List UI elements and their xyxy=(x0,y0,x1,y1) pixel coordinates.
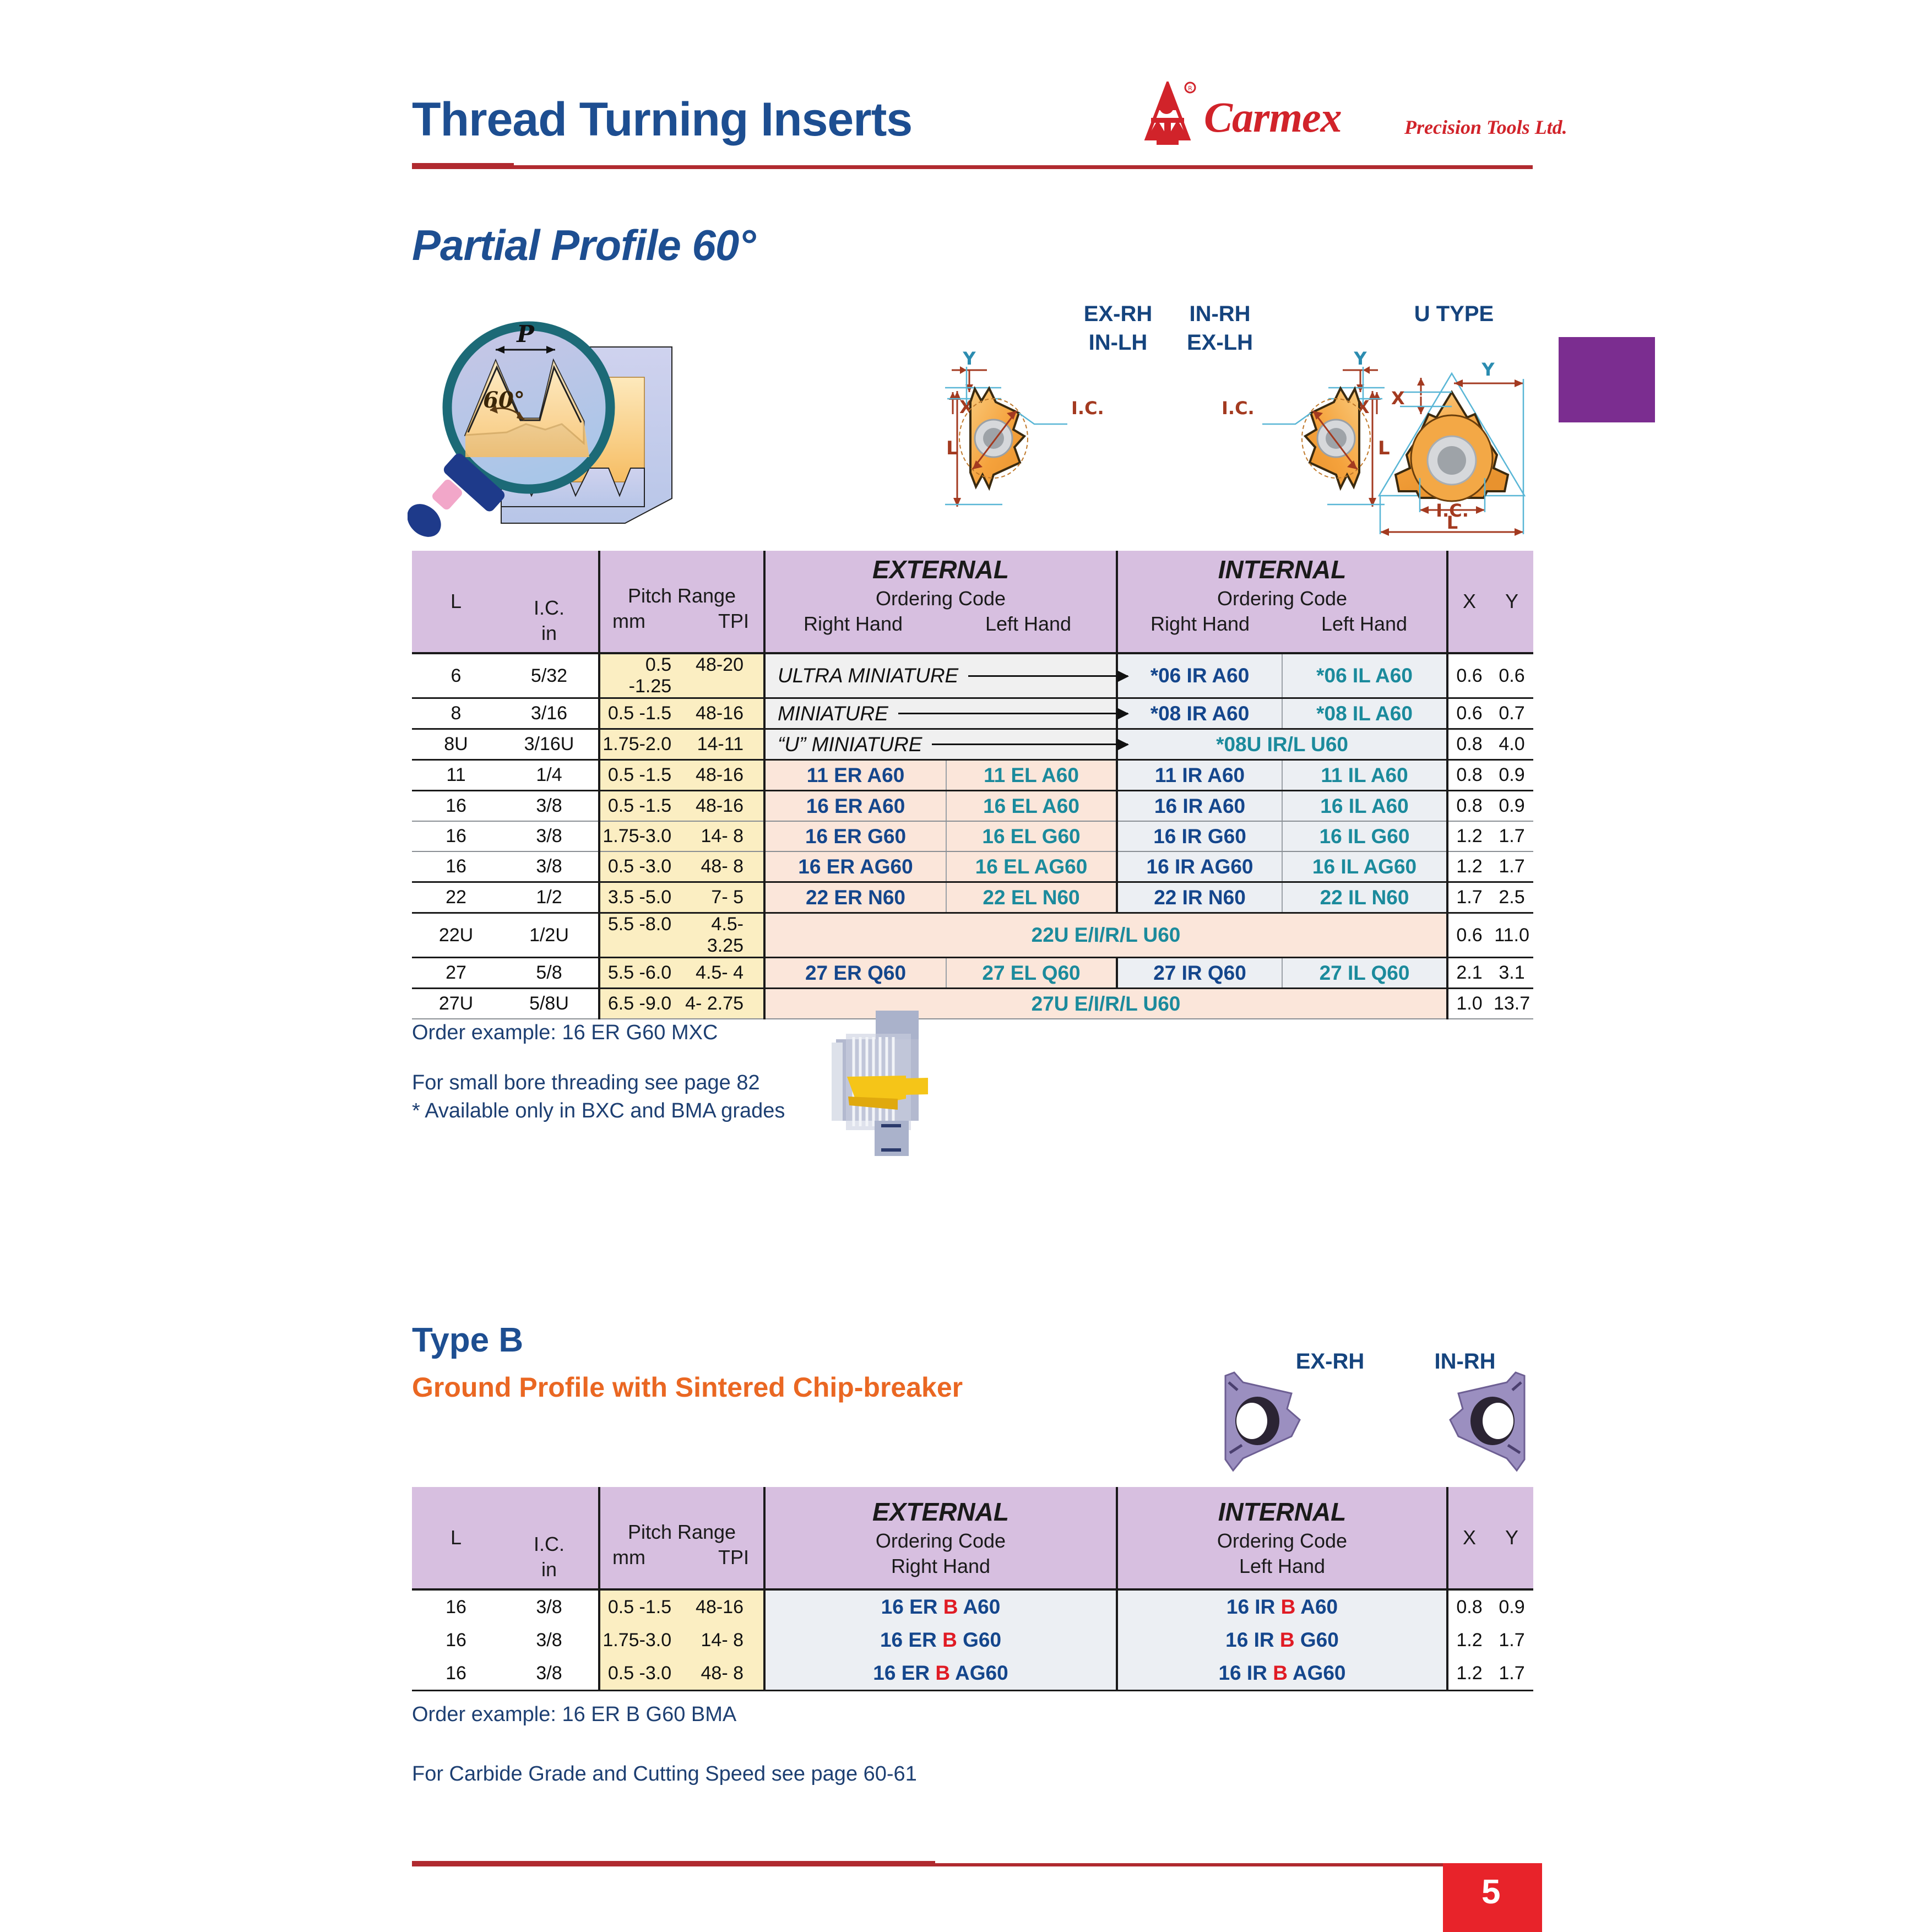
cell-y: 0.9 xyxy=(1490,791,1533,822)
cell-y: 1.7 xyxy=(1490,851,1533,882)
cell-l: 27U xyxy=(412,989,500,1019)
cell-x: 0.8 xyxy=(1447,729,1490,760)
cell-x: 0.8 xyxy=(1447,791,1490,822)
cell-external-note: “U” MINIATURE xyxy=(764,729,1117,760)
section-title-partial-profile: Partial Profile 60° xyxy=(412,220,755,270)
cell-internal-lh: 11 IL A60 xyxy=(1282,760,1447,791)
cell-internal-rh: 16 IR A60 xyxy=(1117,791,1282,822)
typeb-insert-photo-in-rh xyxy=(1426,1366,1542,1476)
cell-internal-lh: 16 IL G60 xyxy=(1282,821,1447,851)
table-row: 22U1/2U5.5 -8.04.5- 3.2522U E/I/R/L U600… xyxy=(412,913,1533,958)
typeb-insert-photo-ex-rh xyxy=(1209,1366,1325,1476)
note-carbide-grade: For Carbide Grade and Cutting Speed see … xyxy=(412,1762,917,1786)
cell-external-code: 16 ER B AG60 xyxy=(764,1657,1117,1691)
note-order-example-2: Order example: 16 ER B G60 BMA xyxy=(412,1703,736,1727)
table-row: 221/23.5 -5.07- 522 ER N6022 EL N6022 IR… xyxy=(412,882,1533,913)
cell-x: 2.1 xyxy=(1447,958,1490,989)
cell-external-lh: 11 EL A60 xyxy=(946,760,1117,791)
cell-pitch: 6.5 -9.04- 2.75 xyxy=(599,989,764,1019)
table-row: 163/80.5 -1.548-1616 ER B A6016 IR B A60… xyxy=(412,1589,1533,1624)
cell-x: 0.6 xyxy=(1447,653,1490,698)
cell-l: 6 xyxy=(412,653,500,698)
cell-internal-lh: 22 IL N60 xyxy=(1282,882,1447,913)
cell-ic: 5/32 xyxy=(500,653,599,698)
cell-l: 27 xyxy=(412,958,500,989)
carmex-logo: R Carmex Precision Tools Ltd. xyxy=(1135,82,1542,150)
cell-x: 0.8 xyxy=(1447,760,1490,791)
typeb-header-row: L I.C. in Pitch Range mm TPI xyxy=(412,1487,1533,1589)
col-header-x: X xyxy=(1447,551,1490,653)
cell-ic: 3/8 xyxy=(500,821,599,851)
cell-pitch: 0.5 -1.548-16 xyxy=(599,1589,764,1624)
col-header-external: EXTERNAL Ordering Code Right Hand xyxy=(764,1487,1117,1589)
section-title-type-b: Type B xyxy=(412,1321,523,1360)
cell-l: 16 xyxy=(412,1589,500,1624)
cell-l: 16 xyxy=(412,1624,500,1657)
cell-external-lh: 22 EL N60 xyxy=(946,882,1117,913)
cell-y: 1.7 xyxy=(1490,1624,1533,1657)
table-row: 65/320.5 -1.2548-20ULTRA MINIATURE*06 IR… xyxy=(412,653,1533,698)
cell-y: 3.1 xyxy=(1490,958,1533,989)
cell-internal-code: 16 IR B A60 xyxy=(1117,1589,1447,1624)
insert-diagram-u-type: Y X I.C. L xyxy=(1349,330,1581,540)
cell-pitch: 0.5 -1.2548-20 xyxy=(599,653,764,698)
cell-external-rh: 27 ER Q60 xyxy=(764,958,946,989)
cell-y: 0.9 xyxy=(1490,760,1533,791)
brand-wordmark: Carmex xyxy=(1204,93,1342,142)
diagram-label-u-type: U TYPE xyxy=(1391,302,1517,327)
cell-internal-rh: *08 IR A60 xyxy=(1117,698,1282,729)
svg-text:L: L xyxy=(946,437,958,459)
cell-l: 22 xyxy=(412,882,500,913)
note-grades: * Available only in BXC and BMA grades xyxy=(412,1099,785,1123)
cell-internal-code: 16 IR B G60 xyxy=(1117,1624,1447,1657)
cell-pitch: 5.5 -6.04.5- 4 xyxy=(599,958,764,989)
cell-internal-rh: *06 IR A60 xyxy=(1117,653,1282,698)
cell-pitch: 1.75-2.014-11 xyxy=(599,729,764,760)
cell-x: 0.6 xyxy=(1447,913,1490,958)
cell-y: 1.7 xyxy=(1490,1657,1533,1691)
svg-text:L: L xyxy=(1447,512,1458,533)
cell-external-lh: 27 EL Q60 xyxy=(946,958,1117,989)
cell-pitch: 0.5 -1.548-16 xyxy=(599,760,764,791)
table-row: 163/80.5 -3.048- 816 ER AG6016 EL AG6016… xyxy=(412,851,1533,882)
table-row: 111/40.5 -1.548-1611 ER A6011 EL A6011 I… xyxy=(412,760,1533,791)
cell-external-note: MINIATURE xyxy=(764,698,1117,729)
note-order-example-1: Order example: 16 ER G60 MXC xyxy=(412,1021,718,1045)
section-subtitle-type-b: Ground Profile with Sintered Chip-breake… xyxy=(412,1371,963,1403)
cell-external-note: ULTRA MINIATURE xyxy=(764,653,1117,698)
type-b-table: L I.C. in Pitch Range mm TPI xyxy=(412,1487,1533,1691)
insert-diagram-ex-rh: L Y X I.C. xyxy=(936,330,1168,523)
cell-l: 16 xyxy=(412,1657,500,1691)
col-header-pitch-range: Pitch Range mm TPI xyxy=(599,1487,764,1589)
col-header-y: Y xyxy=(1490,1487,1533,1589)
cell-ic: 1/4 xyxy=(500,760,599,791)
cell-external-code: 16 ER B G60 xyxy=(764,1624,1117,1657)
svg-text:X: X xyxy=(1391,388,1405,409)
cell-l: 8U xyxy=(412,729,500,760)
cell-y: 1.7 xyxy=(1490,821,1533,851)
cell-ic: 5/8U xyxy=(500,989,599,1019)
cell-pitch: 1.75-3.014- 8 xyxy=(599,1624,764,1657)
pitch-label-p: P xyxy=(516,321,535,348)
cell-y: 11.0 xyxy=(1490,913,1533,958)
table-row: 275/85.5 -6.04.5- 427 ER Q6027 EL Q6027 … xyxy=(412,958,1533,989)
cell-x: 0.6 xyxy=(1447,698,1490,729)
cell-internal-lh: *08 IL A60 xyxy=(1282,698,1447,729)
cell-pitch: 0.5 -1.548-16 xyxy=(599,698,764,729)
cell-l: 8 xyxy=(412,698,500,729)
cell-internal-code: 16 IR B AG60 xyxy=(1117,1657,1447,1691)
cell-internal-rh: 11 IR A60 xyxy=(1117,760,1282,791)
cell-internal-rh: 22 IR N60 xyxy=(1117,882,1282,913)
cell-external-rh: 22 ER N60 xyxy=(764,882,946,913)
cell-ic: 5/8 xyxy=(500,958,599,989)
thread-magnifier-illustration: P 60° xyxy=(408,317,716,540)
cell-x: 1.0 xyxy=(1447,989,1490,1019)
col-header-y: Y xyxy=(1490,551,1533,653)
table-row: 163/81.75-3.014- 816 ER B G6016 IR B G60… xyxy=(412,1624,1533,1657)
cell-pitch: 5.5 -8.04.5- 3.25 xyxy=(599,913,764,958)
cell-internal-lh: 16 IL A60 xyxy=(1282,791,1447,822)
cell-ic: 1/2 xyxy=(500,882,599,913)
cell-x: 0.8 xyxy=(1447,1589,1490,1624)
cell-internal-lh: *06 IL A60 xyxy=(1282,653,1447,698)
cell-pitch: 1.75-3.014- 8 xyxy=(599,821,764,851)
cell-external-rh: 16 ER AG60 xyxy=(764,851,946,882)
cell-external-rh: 16 ER G60 xyxy=(764,821,946,851)
cell-x: 1.2 xyxy=(1447,1657,1490,1691)
cell-y: 0.6 xyxy=(1490,653,1533,698)
catalog-page: Thread Turning Inserts R Carmex Precisio… xyxy=(0,0,1932,1932)
cell-pitch: 0.5 -3.048- 8 xyxy=(599,1657,764,1691)
cell-external-rh: 11 ER A60 xyxy=(764,760,946,791)
cell-internal-lh: 16 IL AG60 xyxy=(1282,851,1447,882)
col-header-l: L xyxy=(412,551,500,653)
diagram-label-in-rh: IN-RH xyxy=(1165,302,1275,327)
table-row: 8U3/16U1.75-2.014-11“U” MINIATURE*08U IR… xyxy=(412,729,1533,760)
footer-rule-accent xyxy=(412,1861,935,1866)
cell-ic: 3/8 xyxy=(500,1589,599,1624)
cell-l: 22U xyxy=(412,913,500,958)
cell-l: 16 xyxy=(412,851,500,882)
table-row: 163/81.75-3.014- 816 ER G6016 EL G6016 I… xyxy=(412,821,1533,851)
cell-external-code: 16 ER B A60 xyxy=(764,1589,1117,1624)
cell-pitch: 0.5 -3.048- 8 xyxy=(599,851,764,882)
cell-y: 0.7 xyxy=(1490,698,1533,729)
svg-text:R: R xyxy=(1188,85,1192,92)
cell-l: 16 xyxy=(412,791,500,822)
table-row: 163/80.5 -3.048- 816 ER B AG6016 IR B AG… xyxy=(412,1657,1533,1691)
cell-internal-rh: 27 IR Q60 xyxy=(1117,958,1282,989)
svg-text:Y: Y xyxy=(1481,359,1495,380)
header-rule xyxy=(412,165,1533,169)
svg-text:Y: Y xyxy=(962,348,976,369)
cell-external-lh: 16 EL G60 xyxy=(946,821,1117,851)
svg-text:I.C.: I.C. xyxy=(1071,398,1104,419)
table-row: 163/80.5 -1.548-1616 ER A6016 EL A6016 I… xyxy=(412,791,1533,822)
brand-tagline: Precision Tools Ltd. xyxy=(1404,116,1567,139)
col-header-internal: INTERNAL Ordering Code Right Hand Left H… xyxy=(1117,551,1447,653)
cell-y: 2.5 xyxy=(1490,882,1533,913)
cell-internal-span: *08U IR/L U60 xyxy=(1117,729,1447,760)
table-header-row: L I.C. in Pitch Range mm TPI xyxy=(412,551,1533,653)
cell-ic: 3/8 xyxy=(500,791,599,822)
cell-y: 4.0 xyxy=(1490,729,1533,760)
partial-profile-table: L I.C. in Pitch Range mm TPI xyxy=(412,551,1533,1019)
note-small-bore: For small bore threading see page 82 xyxy=(412,1071,760,1095)
cell-ic: 3/16 xyxy=(500,698,599,729)
col-header-ic: I.C. in xyxy=(500,1487,599,1589)
page-number: 5 xyxy=(1481,1873,1500,1912)
cell-x: 1.2 xyxy=(1447,821,1490,851)
cell-ic: 1/2U xyxy=(500,913,599,958)
svg-text:I.C.: I.C. xyxy=(1222,398,1255,419)
cell-internal-rh: 16 IR G60 xyxy=(1117,821,1282,851)
col-header-pitch-range: Pitch Range mm TPI xyxy=(599,551,764,653)
page-title: Thread Turning Inserts xyxy=(412,93,912,147)
cell-pitch: 0.5 -1.548-16 xyxy=(599,791,764,822)
cell-l: 16 xyxy=(412,821,500,851)
cell-ic: 3/16U xyxy=(500,729,599,760)
cell-code-span: 22U E/I/R/L U60 xyxy=(764,913,1447,958)
carmex-logo-mark-icon: R xyxy=(1135,82,1201,148)
cell-pitch: 3.5 -5.07- 5 xyxy=(599,882,764,913)
cell-ic: 3/8 xyxy=(500,1657,599,1691)
col-header-external: EXTERNAL Ordering Code Right Hand Left H… xyxy=(764,551,1117,653)
col-header-l: L xyxy=(412,1487,500,1589)
boring-bar-photo xyxy=(815,1011,997,1159)
cell-y: 13.7 xyxy=(1490,989,1533,1019)
col-header-x: X xyxy=(1447,1487,1490,1589)
cell-external-lh: 16 EL A60 xyxy=(946,791,1117,822)
cell-external-rh: 16 ER A60 xyxy=(764,791,946,822)
cell-y: 0.9 xyxy=(1490,1589,1533,1624)
diagram-label-ex-rh: EX-RH xyxy=(1063,302,1173,327)
color-swatch-purple xyxy=(1559,337,1655,422)
angle-label-60: 60° xyxy=(483,387,525,413)
cell-x: 1.7 xyxy=(1447,882,1490,913)
cell-external-lh: 16 EL AG60 xyxy=(946,851,1117,882)
cell-x: 1.2 xyxy=(1447,1624,1490,1657)
cell-x: 1.2 xyxy=(1447,851,1490,882)
cell-ic: 3/8 xyxy=(500,851,599,882)
col-header-ic: I.C. in xyxy=(500,551,599,653)
cell-ic: 3/8 xyxy=(500,1624,599,1657)
cell-internal-rh: 16 IR AG60 xyxy=(1117,851,1282,882)
header-rule-accent xyxy=(412,163,514,169)
cell-internal-lh: 27 IL Q60 xyxy=(1282,958,1447,989)
table-row: 83/160.5 -1.548-16MINIATURE*08 IR A60*08… xyxy=(412,698,1533,729)
cell-l: 11 xyxy=(412,760,500,791)
col-header-internal: INTERNAL Ordering Code Left Hand xyxy=(1117,1487,1447,1589)
